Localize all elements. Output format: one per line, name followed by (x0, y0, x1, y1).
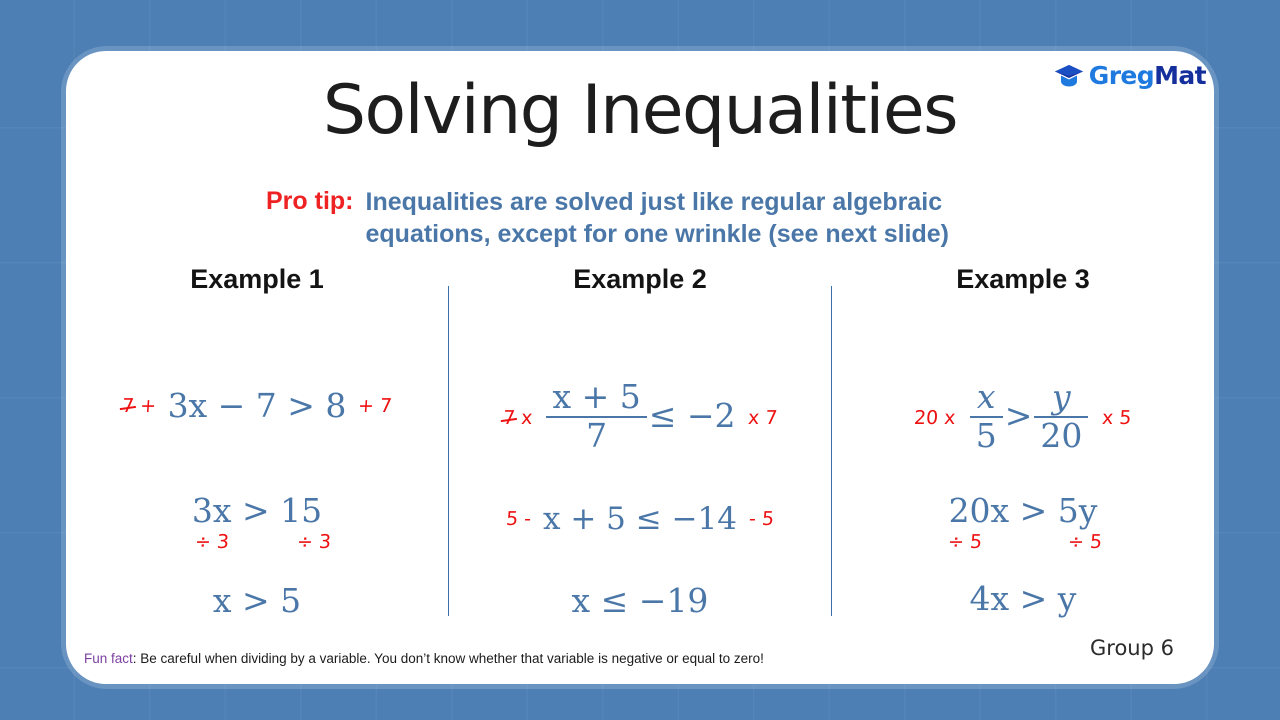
example-1-step-3: x > 5 (66, 581, 448, 620)
equation-2-step-2: x + 5 ≤ −14 (543, 501, 737, 537)
equation-2-step-3: x ≤ −19 (572, 581, 709, 620)
fraction-denominator: 7 (580, 419, 613, 453)
fraction-denominator: 20 (1034, 419, 1088, 453)
annotation-divide-right-1: ÷ 3 (296, 531, 332, 553)
fraction-x-over-5: x5 (970, 380, 1003, 454)
annotation-right-step-2a: x 7 (747, 407, 778, 429)
annotation-divide-left-1: ÷ 3 (194, 531, 230, 553)
annotation-left-step-2a: 7 x (502, 407, 533, 429)
fraction-numerator: y (1046, 380, 1077, 414)
group-label: Group 6 (1090, 636, 1174, 660)
example-column-3: Example 3 20 x x5>y20 x 5 20x > 5y ÷ 5 ÷… (831, 286, 1214, 616)
example-3-step-3: 4x > y (832, 579, 1214, 618)
example-column-2: Example 2 7 x x + 57≤ −2 x 7 5 - x + 5 ≤… (448, 286, 831, 616)
equation-3-step-3: 4x > y (970, 579, 1077, 618)
annotation-left-step-3a: 20 x (913, 407, 956, 429)
fraction-numerator: x (971, 380, 1002, 414)
fraction-y-over-20: y20 (1034, 380, 1088, 454)
annotation-left-step-2b: 5 - (505, 508, 532, 530)
fun-fact-label: Fun fact (84, 651, 133, 666)
example-1-divide-annotations: ÷ 3 ÷ 3 (66, 531, 454, 553)
fun-fact-note: Fun fact: Be careful when dividing by a … (84, 651, 764, 666)
annotation-right-step-1: + 7 (358, 395, 394, 417)
annotation-divide-right-3: ÷ 5 (1067, 531, 1103, 553)
example-3-heading: Example 3 (832, 264, 1214, 295)
pro-tip-label: Pro tip: (266, 186, 354, 216)
page-title: Solving Inequalities (66, 71, 1214, 150)
example-2-step-2: 5 - x + 5 ≤ −14 - 5 (449, 501, 831, 537)
example-2-step-3: x ≤ −19 (449, 581, 831, 620)
equation-3-step-2: 20x > 5y (949, 491, 1098, 530)
fraction-numerator: x + 5 (546, 380, 646, 414)
equation-1-step-1: 3x − 7 > 8 (168, 386, 347, 425)
example-1-heading: Example 1 (66, 264, 448, 295)
fraction-x-plus-5-over-7: x + 57 (546, 380, 646, 454)
annotation-right-step-2b: - 5 (748, 508, 775, 530)
annotation-divide-left-3: ÷ 5 (947, 531, 983, 553)
example-1-step-1: 7 + 3x − 7 > 8 + 7 (66, 386, 448, 425)
relation-2-step-1: ≤ −2 (649, 396, 736, 435)
slide-card: GregMat Solving Inequalities Pro tip: In… (66, 51, 1214, 684)
pro-tip-callout: Pro tip: Inequalities are solved just li… (266, 186, 1006, 250)
annotation-right-step-3a: x 5 (1102, 407, 1133, 429)
example-column-1: Example 1 7 + 3x − 7 > 8 + 7 3x > 15 ÷ 3… (66, 286, 448, 616)
equation-3-step-1: x5>y20 (968, 381, 1091, 455)
fraction-denominator: 5 (970, 419, 1003, 453)
relation-3-step-1: > (1005, 396, 1033, 435)
pro-tip-text: Inequalities are solved just like regula… (366, 186, 1006, 250)
example-3-divide-annotations: ÷ 5 ÷ 5 (832, 531, 1214, 553)
fun-fact-text: : Be careful when dividing by a variable… (133, 651, 764, 666)
equation-1-step-2: 3x > 15 (192, 491, 322, 530)
equation-2-step-1: x + 57≤ −2 (544, 381, 735, 455)
example-3-step-2: 20x > 5y (832, 491, 1214, 530)
example-3-step-1: 20 x x5>y20 x 5 (832, 381, 1214, 455)
examples-container: Example 1 7 + 3x − 7 > 8 + 7 3x > 15 ÷ 3… (66, 286, 1214, 616)
equation-1-step-3: x > 5 (213, 581, 301, 620)
annotation-left-step-1: 7 + (121, 395, 157, 417)
slide-canvas: GregMat Solving Inequalities Pro tip: In… (0, 0, 1280, 720)
example-1-step-2: 3x > 15 (66, 491, 448, 530)
example-2-step-1: 7 x x + 57≤ −2 x 7 (449, 381, 831, 455)
example-2-heading: Example 2 (449, 264, 831, 295)
